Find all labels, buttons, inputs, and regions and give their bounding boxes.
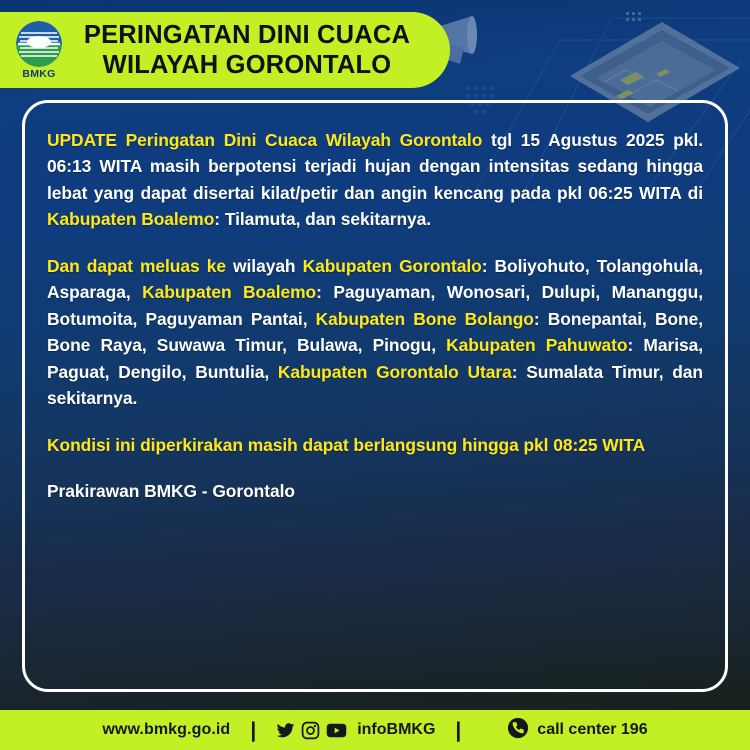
- youtube-icon[interactable]: [326, 721, 347, 740]
- bmkg-logo-label: BMKG: [22, 68, 55, 80]
- footer-separator-right: |: [455, 720, 461, 741]
- paragraph-update: UPDATE Peringatan Dini Cuaca Wilayah Gor…: [47, 127, 703, 233]
- bmkg-logo: BMKG: [8, 21, 70, 80]
- twitter-icon[interactable]: [276, 721, 295, 740]
- regency-pahuwato: Kabupaten Pahuwato: [446, 335, 627, 355]
- update-headline: UPDATE Peringatan Dini Cuaca Wilayah Gor…: [47, 130, 482, 150]
- social-media-group: infoBMKG: [276, 721, 435, 740]
- phone-icon: [507, 717, 529, 744]
- duration-text: Kondisi ini diperkirakan masih dapat ber…: [47, 435, 645, 455]
- website-link[interactable]: www.bmkg.go.id: [102, 721, 230, 739]
- paragraph-duration: Kondisi ini diperkirakan masih dapat ber…: [47, 432, 703, 458]
- page-title-line2: WILAYAH GORONTALO: [70, 50, 424, 80]
- call-center-group: call center 196: [507, 717, 647, 744]
- regency-gorontalo: Kabupaten Gorontalo: [303, 256, 482, 276]
- social-handle[interactable]: infoBMKG: [357, 721, 435, 739]
- regency-bone-bolango: Kabupaten Bone Bolango: [316, 309, 534, 329]
- warning-content-card: UPDATE Peringatan Dini Cuaca Wilayah Gor…: [22, 100, 728, 692]
- instagram-icon[interactable]: [301, 721, 320, 740]
- expansion-headline: Dan dapat meluas ke: [47, 256, 226, 276]
- paragraph-expansion: Dan dapat meluas ke wilayah Kabupaten Go…: [47, 253, 703, 412]
- regency-gorontalo-utara: Kabupaten Gorontalo Utara: [278, 362, 512, 382]
- bmkg-logo-icon: [16, 21, 62, 67]
- regency-boalemo-primary: Kabupaten Boalemo: [47, 209, 214, 229]
- footer-separator-left: |: [250, 720, 256, 741]
- page-title: PERINGATAN DINI CUACA WILAYAH GORONTALO: [70, 20, 450, 80]
- regency-boalemo: Kabupaten Boalemo: [142, 282, 316, 302]
- forecaster-signature: Prakirawan BMKG - Gorontalo: [47, 478, 703, 504]
- weather-warning-infographic: BMKG PERINGATAN DINI CUACA WILAYAH GORON…: [0, 0, 750, 750]
- boalemo-districts-primary: : Tilamuta, dan sekitarnya.: [214, 209, 431, 229]
- warning-body-text: UPDATE Peringatan Dini Cuaca Wilayah Gor…: [47, 127, 703, 504]
- footer-bar: www.bmkg.go.id | infoB: [0, 710, 750, 750]
- header-banner: BMKG PERINGATAN DINI CUACA WILAYAH GORON…: [0, 12, 450, 88]
- dot-grid: [626, 12, 641, 21]
- expansion-connector: wilayah: [226, 256, 303, 276]
- page-title-line1: PERINGATAN DINI CUACA: [84, 21, 410, 49]
- call-center-label[interactable]: call center 196: [537, 721, 647, 739]
